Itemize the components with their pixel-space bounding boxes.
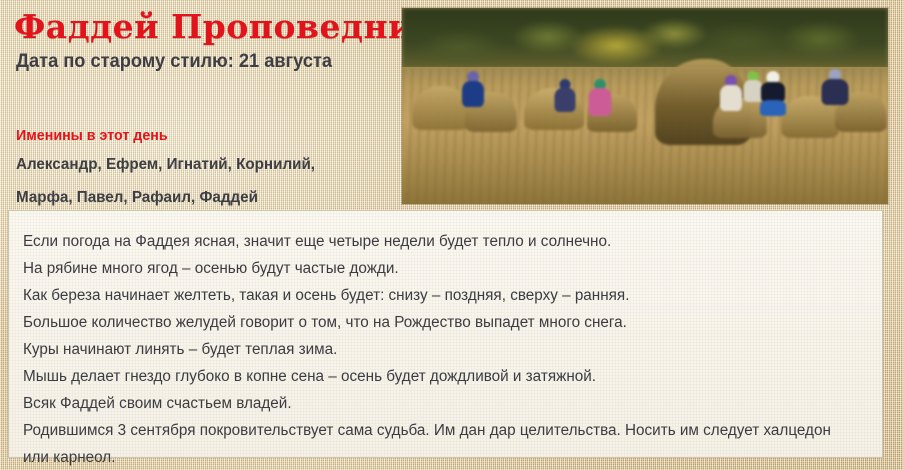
header-block: Фаддей Проповедник Дата по старому стилю… (14, 10, 394, 72)
person-body (821, 79, 848, 105)
list-item: Родившимся 3 сентября покровительствует … (23, 417, 849, 470)
nameday-names-line-2: Марфа, Павел, Рафаил, Фаддей (16, 186, 377, 211)
person-body (462, 81, 484, 107)
nameday-block: Именины в этот день Александр, Ефрем, Иг… (16, 127, 396, 211)
omens-panel: Если погода на Фаддея ясная, значит еще … (8, 210, 883, 458)
person (820, 69, 850, 103)
page-title: Фаддей Проповедник (14, 10, 394, 45)
list-item: Всяк Фаддей своим счастьем владей. (23, 390, 849, 417)
old-style-date: Дата по старому стилю: 21 августа (16, 51, 379, 73)
photo-treeline (402, 8, 888, 73)
list-item: Большое количество желудей говорит о том… (23, 309, 849, 336)
list-item: Если погода на Фаддея ясная, значит еще … (23, 228, 849, 255)
list-item: Мышь делает гнездо глубоко в копне сена … (23, 363, 849, 390)
person-body (554, 88, 575, 112)
person (553, 79, 577, 111)
person (460, 71, 486, 105)
nameday-names-line-1: Александр, Ефрем, Игнатий, Корнилий, (16, 153, 377, 178)
nameday-heading: Именины в этот день (16, 127, 377, 145)
person (718, 75, 744, 109)
list-item: Куры начинают линять – будет теплая зима… (23, 336, 849, 363)
person-body (761, 82, 785, 102)
harvest-photo (402, 8, 888, 204)
omens-list: Если погода на Фаддея ясная, значит еще … (9, 211, 882, 470)
saint-day-card: Фаддей Проповедник Дата по старому стилю… (0, 0, 903, 470)
list-item: На рябине много ягод – осенью будут част… (23, 255, 849, 282)
person-body (720, 85, 742, 111)
photo-foreground-sheaves (402, 110, 888, 204)
list-item: Как береза начинает желтеть, такая и осе… (23, 282, 849, 309)
person (759, 71, 787, 113)
